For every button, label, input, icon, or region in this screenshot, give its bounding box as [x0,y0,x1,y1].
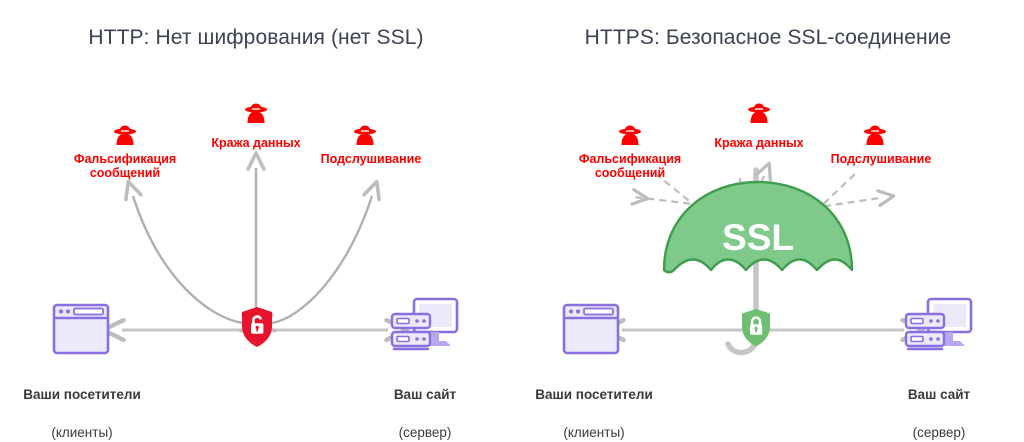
node-server-subtitle: (сервер) [399,425,452,440]
node-label-client: Ваши посетители (клиенты) [8,366,156,442]
node-server-title: Ваш сайт [394,387,456,402]
panel-https: HTTPS: Безопасное SSL-соединение SSL [512,0,1024,424]
threat-label-data-theft: Кража данных [699,136,819,150]
threat-label-eavesdropping: Подслушивание [310,152,432,166]
node-client-subtitle: (клиенты) [563,425,624,440]
hacker-icon [110,122,140,152]
http-arrow-eavesdropping [272,196,372,323]
server-monitor-icon [388,296,460,358]
shield-locked-icon [740,308,772,348]
http-arrow-tampering [133,196,243,323]
server-monitor-icon [902,296,974,358]
panel-http: HTTP: Нет шифрования (нет SSL) [0,0,512,424]
umbrella-ssl-label: SSL [722,217,794,258]
node-client-title: Ваши посетители [23,387,141,402]
node-server-subtitle: (сервер) [913,425,966,440]
hacker-icon [744,100,774,130]
hacker-icon [241,100,271,130]
node-label-client: Ваши посетители (клиенты) [520,366,668,442]
node-client-title: Ваши посетители [535,387,653,402]
hacker-icon [615,122,645,152]
node-client-subtitle: (клиенты) [51,425,112,440]
threat-label-tampering: Фальсификация сообщений [55,152,195,180]
threat-label-data-theft: Кража данных [196,136,316,150]
node-label-server: Ваш сайт (сервер) [370,366,480,442]
hacker-icon [860,122,890,152]
browser-window-icon [52,303,110,355]
umbrella-icon: SSL [660,178,856,288]
browser-window-icon [562,303,620,355]
hacker-icon [350,122,380,152]
node-server-title: Ваш сайт [908,387,970,402]
shield-unlocked-icon [240,306,274,348]
threat-label-tampering: Фальсификация сообщений [560,152,700,180]
threat-label-eavesdropping: Подслушивание [820,152,942,166]
node-label-server: Ваш сайт (сервер) [884,366,994,442]
http-arrow-layer [0,0,512,424]
